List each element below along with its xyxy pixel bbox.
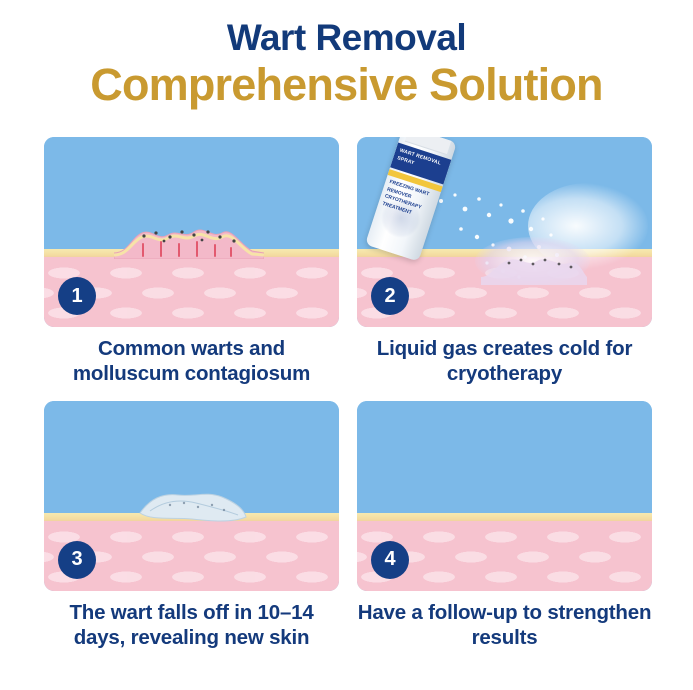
step-card-1: 1 Common warts and molluscum contagiosum [44, 137, 339, 387]
step-caption-2: Liquid gas creates cold for cryotherapy [357, 336, 652, 387]
steps-grid: 1 Common warts and molluscum contagiosum… [44, 137, 652, 651]
detached-wart-icon [136, 489, 248, 525]
title-line-2: Comprehensive Solution [0, 60, 693, 110]
step-card-4: 4 Have a follow-up to strengthen results [357, 401, 652, 651]
title-line-1: Wart Removal [0, 18, 693, 58]
step-4-illustration: 4 [357, 401, 652, 591]
step-1-illustration: 1 [44, 137, 339, 327]
step-card-3: 3 The wart falls off in 10–14 days, reve… [44, 401, 339, 651]
step-caption-4: Have a follow-up to strengthen results [357, 600, 652, 651]
step-caption-3: The wart falls off in 10–14 days, reveal… [44, 600, 339, 651]
step-caption-1: Common warts and molluscum contagiosum [44, 336, 339, 387]
wart-icon [475, 233, 590, 285]
step-2-illustration: WART REMOVAL SPRAY FREEZING WART REMOVER… [357, 137, 652, 327]
background-sky [357, 401, 652, 516]
infographic-page: Wart Removal Comprehensive Solution [0, 0, 693, 690]
step-3-illustration: 3 [44, 401, 339, 591]
step-card-2: WART REMOVAL SPRAY FREEZING WART REMOVER… [357, 137, 652, 387]
step-number-badge-1: 1 [58, 277, 96, 315]
wart-icon [114, 219, 264, 259]
step-number-badge-3: 3 [58, 541, 96, 579]
page-title: Wart Removal Comprehensive Solution [0, 0, 693, 109]
step-number-badge-4: 4 [371, 541, 409, 579]
step-number-badge-2: 2 [371, 277, 409, 315]
